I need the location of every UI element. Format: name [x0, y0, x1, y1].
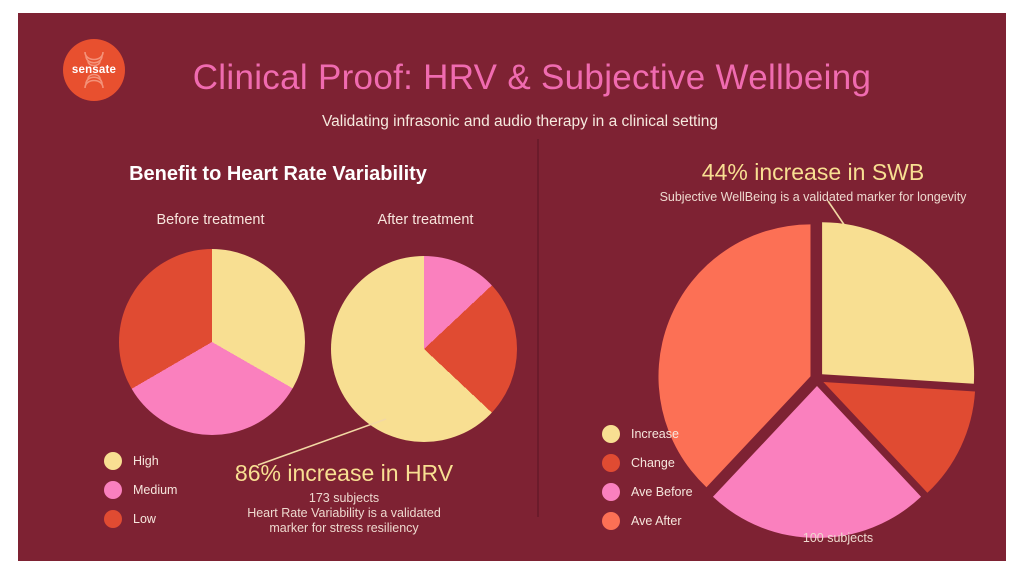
legend-label: Ave After: [631, 514, 682, 528]
legend-swb-item-ave-before: Ave Before: [602, 483, 693, 501]
hrv-note-line1: Heart Rate Variability is a validated: [203, 506, 485, 521]
legend-label: High: [133, 454, 159, 468]
legend-swatch-icon: [602, 425, 620, 443]
pie-caption-after: After treatment: [338, 212, 513, 228]
legend-hrv-item-low: Low: [104, 510, 177, 528]
panel-divider: [537, 139, 539, 517]
legend-hrv: HighMediumLow: [104, 452, 177, 539]
left-panel-heading: Benefit to Heart Rate Variability: [58, 163, 498, 186]
legend-swb-item-ave-after: Ave After: [602, 512, 693, 530]
pie-slice-increase: [822, 222, 974, 384]
hrv-callout: 86% increase in HRV 173 subjects Heart R…: [203, 460, 485, 536]
pie-chart-hrv-before: [119, 249, 305, 435]
legend-swatch-icon: [602, 483, 620, 501]
legend-swb: IncreaseChangeAve BeforeAve After: [602, 425, 693, 541]
legend-swb-item-change: Change: [602, 454, 693, 472]
legend-swatch-icon: [602, 512, 620, 530]
pie-chart-swb: [657, 219, 977, 539]
legend-swatch-icon: [104, 510, 122, 528]
legend-label: Low: [133, 512, 156, 526]
pie-caption-before: Before treatment: [123, 212, 298, 228]
hrv-subjects: 173 subjects: [203, 491, 485, 506]
slide-canvas: sensate Clinical Proof: HRV & Subjective…: [18, 13, 1006, 561]
legend-label: Ave Before: [631, 485, 693, 499]
legend-label: Medium: [133, 483, 177, 497]
legend-swatch-icon: [104, 452, 122, 470]
hrv-note-line2: marker for stress resiliency: [203, 521, 485, 536]
legend-swb-item-increase: Increase: [602, 425, 693, 443]
swb-callout-detail: Subjective WellBeing is a validated mark…: [613, 190, 1006, 205]
swb-subjects-note: 100 subjects: [718, 531, 958, 545]
legend-swatch-icon: [602, 454, 620, 472]
legend-label: Change: [631, 456, 675, 470]
legend-hrv-item-medium: Medium: [104, 481, 177, 499]
swb-callout: 44% increase in SWB Subjective WellBeing…: [613, 159, 1006, 205]
hrv-callout-headline: 86% increase in HRV: [203, 460, 485, 487]
swb-callout-headline: 44% increase in SWB: [613, 159, 1006, 186]
page-subtitle: Validating infrasonic and audio therapy …: [18, 113, 1006, 131]
hrv-callout-detail: 173 subjects Heart Rate Variability is a…: [203, 491, 485, 536]
page-title: Clinical Proof: HRV & Subjective Wellbei…: [18, 58, 1006, 98]
legend-hrv-item-high: High: [104, 452, 177, 470]
legend-swatch-icon: [104, 481, 122, 499]
legend-label: Increase: [631, 427, 679, 441]
